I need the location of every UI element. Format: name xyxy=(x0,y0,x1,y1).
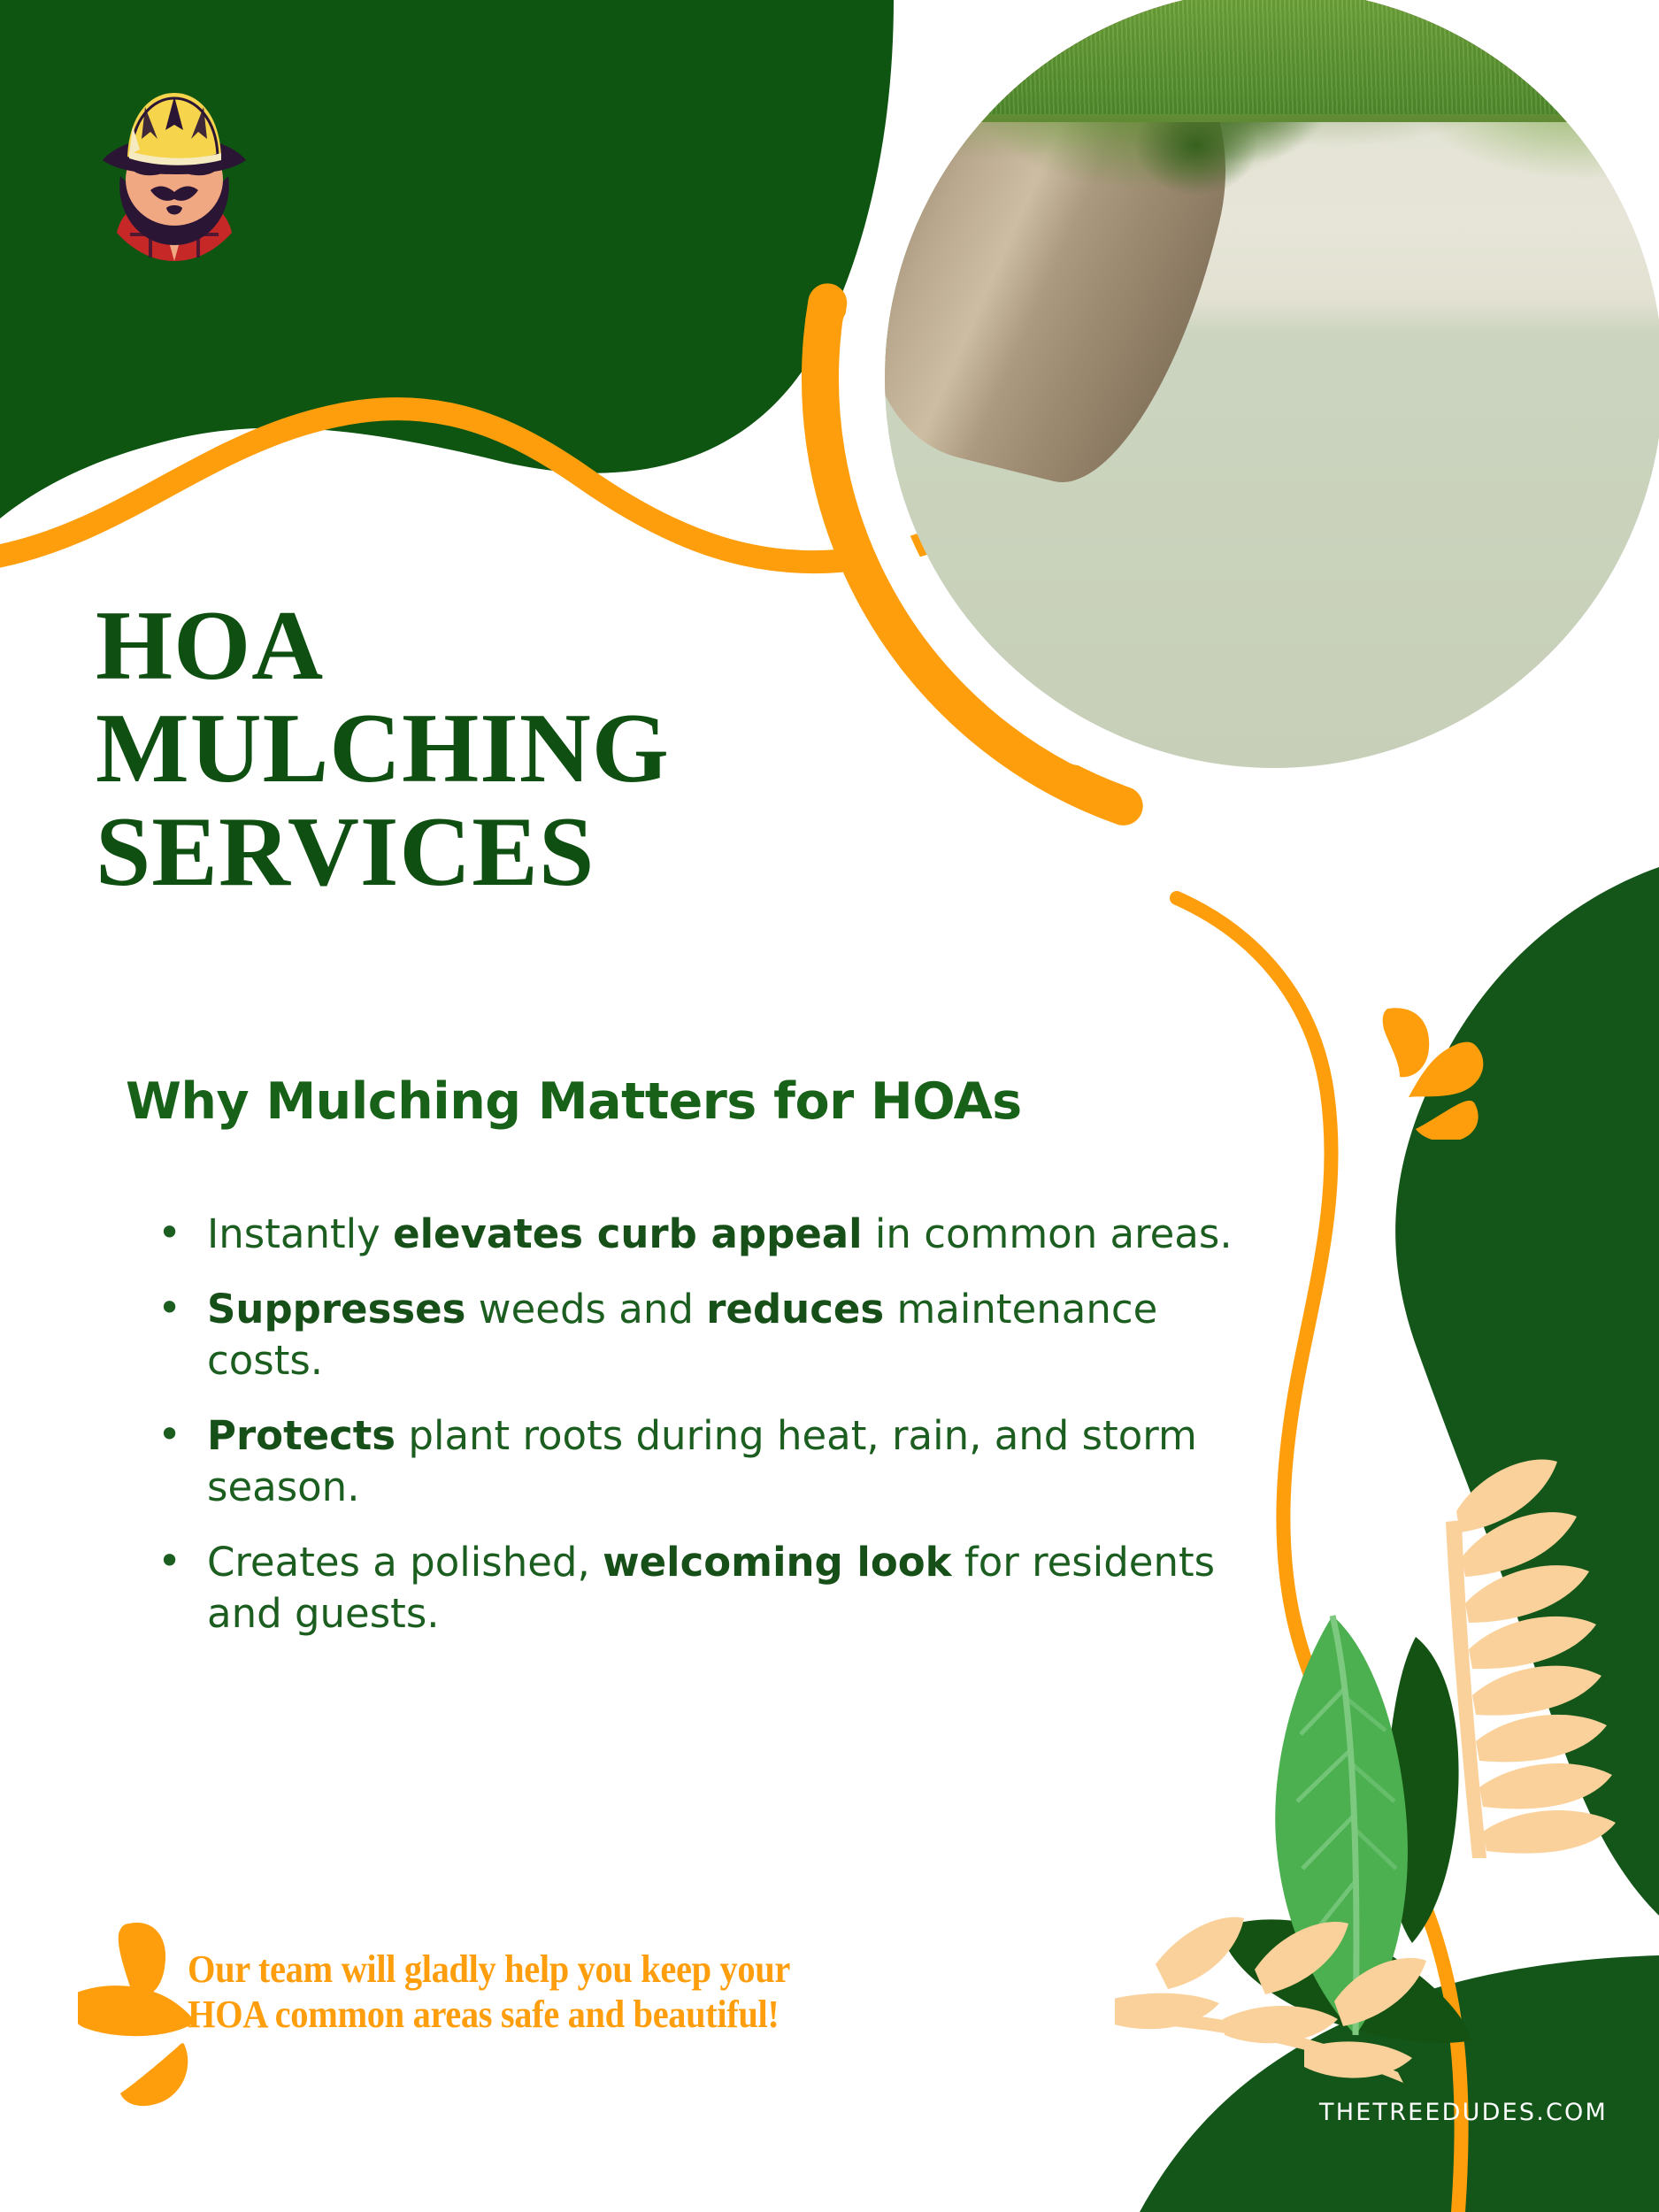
website-url: THETREEDUDES.COM xyxy=(1319,2099,1608,2126)
tagline: Our team will gladly help you keep your … xyxy=(188,1947,790,2037)
tan-palm-frond-icon xyxy=(1446,1459,1616,1858)
list-item: Protects plant roots during heat, rain, … xyxy=(149,1410,1281,1514)
photo-lawn xyxy=(885,0,1659,114)
poster-canvas: HOA MULCHING SERVICES Why Mulching Matte… xyxy=(0,0,1659,2212)
orange-petal-cluster-icon xyxy=(1370,998,1520,1140)
bullet-3-pre: Creates a polished, xyxy=(207,1539,603,1586)
bullet-2-bold1: Protects xyxy=(207,1412,396,1459)
benefits-list: Instantly elevates curb appeal in common… xyxy=(149,1209,1281,1663)
page-title: HOA MULCHING SERVICES xyxy=(96,595,892,903)
title-line-2: MULCHING xyxy=(96,697,892,800)
title-line-3: SERVICES xyxy=(96,801,892,903)
bullet-3-bold1: welcoming look xyxy=(603,1539,952,1586)
hero-photo xyxy=(885,0,1659,768)
list-item: Suppresses weeds and reduces maintenance… xyxy=(149,1284,1281,1387)
title-line-1: HOA xyxy=(96,595,892,697)
bullet-0-mid: in common areas. xyxy=(863,1210,1233,1257)
bullet-1-mid: weeds and xyxy=(465,1286,706,1333)
lumberjack-mascot-logo xyxy=(81,84,267,270)
list-item: Instantly elevates curb appeal in common… xyxy=(149,1209,1281,1261)
list-item: Creates a polished, welcoming look for r… xyxy=(149,1537,1281,1640)
bullet-0-pre: Instantly xyxy=(207,1210,393,1257)
bullet-0-bold1: elevates curb appeal xyxy=(393,1210,863,1257)
section-subheading: Why Mulching Matters for HOAs xyxy=(126,1072,1022,1131)
bullet-1-bold1: Suppresses xyxy=(207,1286,465,1333)
bullet-1-bold2: reduces xyxy=(706,1286,884,1333)
